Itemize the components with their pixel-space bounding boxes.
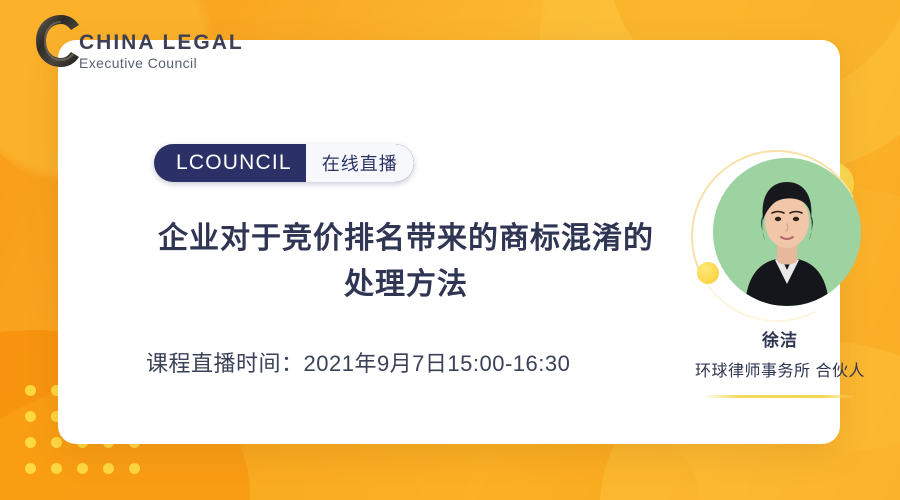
speaker-underline bbox=[706, 395, 854, 398]
dot bbox=[25, 463, 36, 474]
dot bbox=[25, 411, 36, 422]
brand-line-2: Executive Council bbox=[79, 55, 197, 71]
brand-line-1: CHINA LEGAL bbox=[79, 31, 244, 54]
live-badge[interactable]: LCOUNCIL 在线直播 bbox=[154, 144, 414, 182]
content-card: LCOUNCIL 在线直播 企业对于竞价排名带来的商标混淆的处理方法 课程直播时… bbox=[58, 40, 840, 444]
dot bbox=[129, 463, 140, 474]
brand-wordmark: CHINA LEGAL Executive Council bbox=[79, 32, 279, 73]
brand-lockup: CHINA LEGAL Executive Council bbox=[24, 8, 284, 88]
speaker-organization: 环球律师事务所 合伙人 bbox=[680, 357, 880, 381]
dot bbox=[77, 463, 88, 474]
speaker-block: 徐洁 环球律师事务所 合伙人 bbox=[680, 158, 880, 398]
dot bbox=[25, 385, 36, 396]
badge-live-label: 在线直播 bbox=[306, 144, 414, 182]
yellow-circle-avatar bbox=[697, 262, 719, 284]
page-title: 企业对于竞价排名带来的商标混淆的处理方法 bbox=[146, 216, 666, 308]
badge-brand-label: LCOUNCIL bbox=[154, 144, 306, 182]
dot bbox=[103, 463, 114, 474]
speaker-name: 徐洁 bbox=[680, 326, 880, 351]
dot bbox=[25, 437, 36, 448]
dot bbox=[51, 463, 62, 474]
avatar-wrap bbox=[705, 158, 855, 308]
poster-canvas: LCOUNCIL 在线直播 企业对于竞价排名带来的商标混淆的处理方法 课程直播时… bbox=[0, 0, 900, 500]
avatar bbox=[713, 158, 861, 306]
schedule-text: 课程直播时间：2021年9月7日15:00-16:30 bbox=[146, 346, 570, 378]
dot bbox=[51, 437, 62, 448]
